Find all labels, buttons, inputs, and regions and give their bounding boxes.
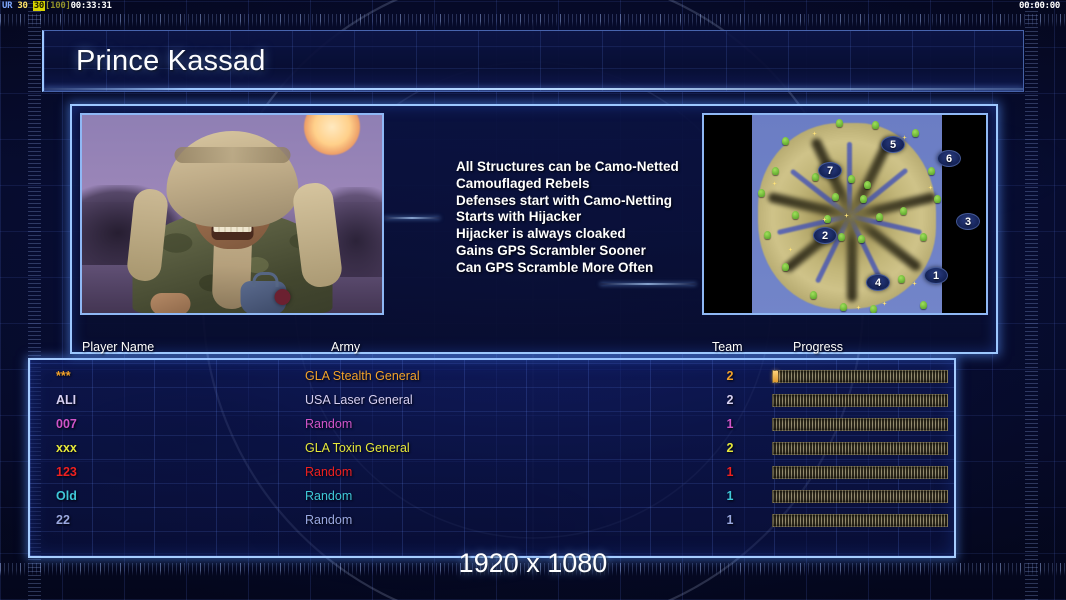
map-start-position-7[interactable]: 7 <box>818 162 842 179</box>
bonus-list-container: All Structures can be Camo-Netted Camouf… <box>384 113 702 315</box>
resolution-overlay: 1920 x 1080 <box>0 548 1066 584</box>
teapot-icon <box>241 281 287 315</box>
bonus-item: Defenses start with Camo-Netting <box>456 193 679 210</box>
map-tree-icon <box>870 305 877 313</box>
general-portrait <box>80 113 384 315</box>
page-title: Prince Kassad <box>76 45 266 78</box>
column-header-team: Team <box>712 340 743 354</box>
map-tree-icon <box>858 235 865 243</box>
separator-left <box>384 217 440 219</box>
map-tree-icon <box>864 181 871 189</box>
map-tree-icon <box>836 119 843 127</box>
hud-game-timer: 00:00:00 <box>1019 1 1060 11</box>
hud-session-time: 00:33:31 <box>71 1 112 11</box>
map-start-position-2[interactable]: 2 <box>813 227 837 244</box>
column-header-player-name: Player Name <box>82 340 154 354</box>
map-start-position-1[interactable]: 1 <box>924 267 948 284</box>
map-tree-icon <box>782 263 789 271</box>
bonus-item: All Structures can be Camo-Netted <box>456 159 679 176</box>
game-screen: UR 30 30[100]00:33:31 00:00:00 Prince Ka… <box>0 0 1066 600</box>
map-tree-icon <box>848 175 855 183</box>
map-tree-icon <box>928 167 935 175</box>
column-header-army: Army <box>331 340 360 354</box>
title-bar: Prince Kassad <box>42 30 1024 92</box>
hud-fps: 30 <box>17 1 27 11</box>
portrait-figure <box>125 131 340 313</box>
map-tree-icon <box>810 291 817 299</box>
map-tree-icon <box>920 301 927 309</box>
figure-hand <box>151 293 191 315</box>
map-start-position-5[interactable]: 5 <box>881 136 905 153</box>
map-tree-icon <box>912 129 919 137</box>
loading-screen-frame: Prince Kassad <box>42 30 1024 558</box>
hud-performance-readout: UR 30 30[100]00:33:31 <box>2 1 112 11</box>
bonus-item: Gains GPS Scrambler Sooner <box>456 243 679 260</box>
map-start-position-6[interactable]: 6 <box>937 150 961 167</box>
map-tree-icon <box>840 303 847 311</box>
separator-right <box>600 283 696 285</box>
map-tree-icon <box>764 231 771 239</box>
ruler-right <box>1025 0 1038 600</box>
hud-label: UR <box>2 1 12 11</box>
map-tree-icon <box>832 193 839 201</box>
map-tree-icon <box>792 211 799 219</box>
bonus-item: Camouflaged Rebels <box>456 176 679 193</box>
hud-fps-limit: 100 <box>50 1 65 11</box>
map-tree-icon <box>898 275 905 283</box>
bonus-item: Can GPS Scramble More Often <box>456 260 679 277</box>
map-tree-icon <box>772 167 779 175</box>
hud-fps-capped: 30 <box>33 1 45 11</box>
figure-headwrap <box>166 131 298 227</box>
map-preview: 5673241 <box>702 113 988 315</box>
map-tree-icon <box>876 213 883 221</box>
map-tree-icon <box>838 233 845 241</box>
title-underline <box>44 88 1023 90</box>
resolution-label: 1920 x 1080 <box>0 548 1066 579</box>
player-table-header: Player Name Army Team Progress <box>40 340 950 358</box>
map-tree-icon <box>758 189 765 197</box>
map-tree-icon <box>782 137 789 145</box>
map-tree-icon <box>812 173 819 181</box>
map-tree-icon <box>872 121 879 129</box>
map-tree-icon <box>934 195 941 203</box>
bonus-item: Hijacker is always cloaked <box>456 226 679 243</box>
general-info-panel: All Structures can be Camo-Netted Camouf… <box>70 104 998 354</box>
bonus-item: Starts with Hijacker <box>456 209 679 226</box>
map-tree-icon <box>920 233 927 241</box>
map-tree-icon <box>860 195 867 203</box>
bonus-list: All Structures can be Camo-Netted Camouf… <box>456 159 679 277</box>
map-start-position-4[interactable]: 4 <box>866 274 890 291</box>
map-start-position-3[interactable]: 3 <box>956 213 980 230</box>
map-tree-icon <box>900 207 907 215</box>
column-header-progress: Progress <box>793 340 843 354</box>
ruler-top <box>0 14 1066 27</box>
map-image: 5673241 <box>752 115 942 315</box>
